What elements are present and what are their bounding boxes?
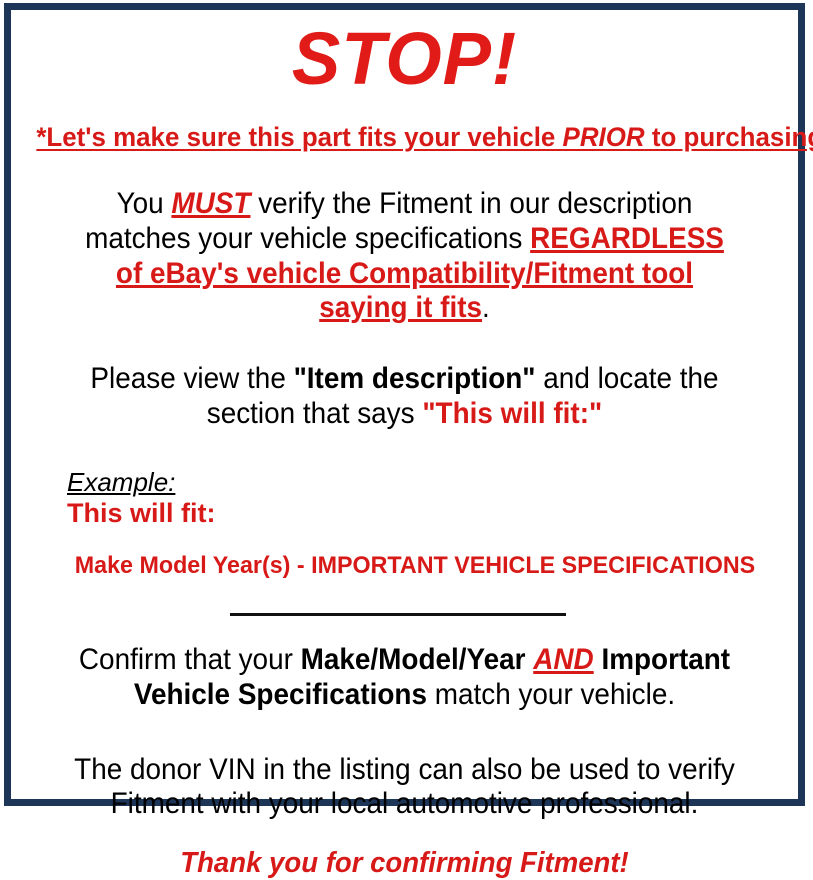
- p3-seg-1: Confirm that your: [79, 643, 301, 676]
- fitment-notice-body: STOP! *Let's make sure this part fits yo…: [11, 22, 798, 811]
- paragraph-item-description: Please view the "Item description" and l…: [48, 362, 761, 432]
- subtitle-text-after: to purchasing*: [645, 122, 813, 152]
- p2-emphasis-item-description: "Item description": [294, 362, 536, 395]
- p1-seg-5: .: [482, 291, 490, 324]
- p3-emphasis-make-model-year: Make/Model/Year: [301, 643, 526, 676]
- p3-seg-7: match your vehicle.: [427, 678, 675, 711]
- p2-emphasis-this-will-fit: "This will fit:": [422, 397, 602, 430]
- example-spec-line: Make Model Year(s) - IMPORTANT VEHICLE S…: [67, 553, 766, 579]
- paragraph-verify-fitment: You MUST verify the Fitment in our descr…: [48, 187, 761, 326]
- p2-seg-1: Please view the: [90, 362, 293, 395]
- p1-emphasis-must: MUST: [171, 187, 250, 220]
- closing-thank-you: Thank you for confirming Fitment!: [40, 848, 769, 880]
- example-fit-heading: This will fit:: [67, 499, 788, 529]
- paragraph-confirm-match: Confirm that your Make/Model/Year AND Im…: [48, 643, 761, 713]
- p3-seg-3: [525, 643, 533, 676]
- paragraph-donor-vin: The donor VIN in the listing can also be…: [48, 753, 761, 823]
- subtitle-emphasis-prior: PRIOR: [563, 122, 645, 152]
- subtitle-text-before: *Let's make sure this part fits your veh…: [36, 122, 562, 152]
- example-block: Example: This will fit: Make Model Year(…: [21, 468, 788, 579]
- divider-wrap: [21, 603, 788, 621]
- page-title: STOP!: [29, 22, 781, 96]
- subtitle-banner: *Let's make sure this part fits your veh…: [36, 122, 772, 153]
- p1-seg-1: You: [117, 187, 172, 220]
- p3-emphasis-and: AND: [533, 643, 593, 676]
- fitment-notice-frame: STOP! *Let's make sure this part fits yo…: [4, 3, 805, 806]
- horizontal-divider: [230, 613, 566, 616]
- example-label-row: Example:: [67, 468, 788, 497]
- example-label: Example:: [67, 468, 175, 497]
